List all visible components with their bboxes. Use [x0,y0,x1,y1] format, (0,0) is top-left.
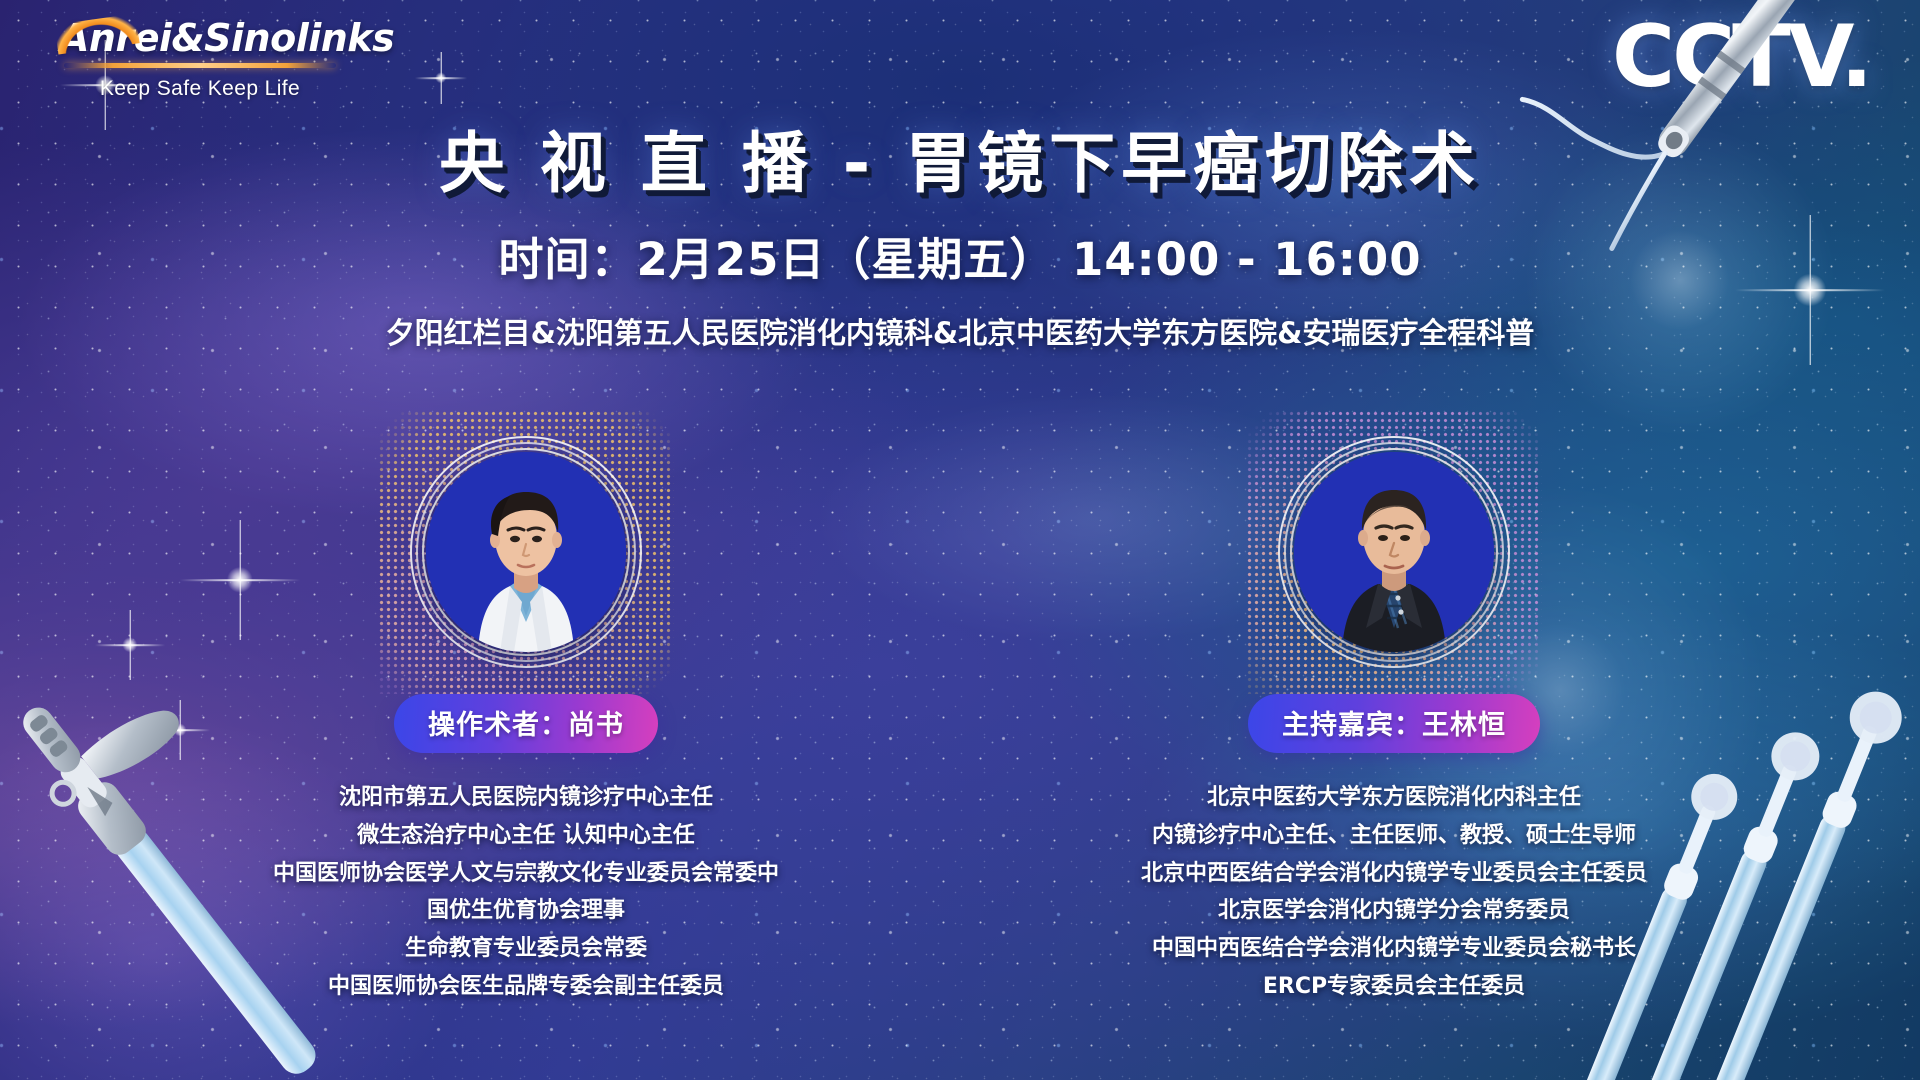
brand-swoosh-icon [54,13,139,54]
speaker-credentials-host: 北京中医药大学东方医院消化内科主任 内镜诊疗中心主任、主任医师、教授、硕士生导师… [1114,779,1674,1006]
credential-line: ERCP专家委员会主任委员 [1114,968,1674,1006]
speakers-section: 操作术者：尚书 沈阳市第五人民医院内镜诊疗中心主任 微生态治疗中心主任 认知中心… [0,452,1920,1006]
credential-line: 沈阳市第五人民医院内镜诊疗中心主任 [246,779,806,817]
credential-line: 中国医师协会医生品牌专委会副主任委员 [246,968,806,1006]
speaker-photo-host [1294,452,1494,652]
avatar [426,452,626,652]
credential-line: 北京医学会消化内镜学分会常务委员 [1114,892,1674,930]
credential-line: 生命教育专业委员会常委 [246,930,806,968]
credential-line: 北京中医药大学东方医院消化内科主任 [1114,779,1674,817]
brand-tagline: Keep Safe Keep Life [60,77,340,101]
title-block: 央 视 直 播 - 胃镜下早癌切除术 时间：2月25日（星期五） 14:00 -… [0,128,1920,352]
brand-name: Anrei&Sinolinks [60,16,340,60]
organizers-line: 夕阳红栏目&沈阳第五人民医院消化内镜科&北京中医药大学东方医院&安瑞医疗全程科普 [0,310,1920,352]
credential-line: 内镜诊疗中心主任、主任医师、教授、硕士生导师 [1114,817,1674,855]
brand-divider [64,63,336,68]
speaker-name-badge-host: 主持嘉宾：王林恒 [1248,694,1540,753]
speaker-credentials-operator: 沈阳市第五人民医院内镜诊疗中心主任 微生态治疗中心主任 认知中心主任 中国医师协… [246,779,806,1006]
speaker-card-host: 主持嘉宾：王林恒 北京中医药大学东方医院消化内科主任 内镜诊疗中心主任、主任医师… [1114,452,1674,1006]
page-title: 央 视 直 播 - 胃镜下早癌切除术 [0,128,1920,199]
credential-line: 中国中西医结合学会消化内镜学专业委员会秘书长 [1114,930,1674,968]
speaker-name-badge-operator: 操作术者：尚书 [394,694,658,753]
avatar [1294,452,1494,652]
credential-line: 微生态治疗中心主任 认知中心主任 [246,817,806,855]
cctv-logo: CCTV. [1612,14,1870,100]
credential-line: 北京中西医结合学会消化内镜学专业委员会主任委员 [1114,855,1674,893]
broadcast-time: 时间：2月25日（星期五） 14:00 - 16:00 [0,223,1920,288]
credential-line: 中国医师协会医学人文与宗教文化专业委员会常委中 [246,855,806,893]
speaker-photo-operator [426,452,626,652]
live-broadcast-poster: Anrei&Sinolinks Keep Safe Keep Life CCTV… [0,0,1920,1080]
brand-logo: Anrei&Sinolinks Keep Safe Keep Life [60,16,340,101]
credential-line: 国优生优育协会理事 [246,892,806,930]
speaker-card-operator: 操作术者：尚书 沈阳市第五人民医院内镜诊疗中心主任 微生态治疗中心主任 认知中心… [246,452,806,1006]
